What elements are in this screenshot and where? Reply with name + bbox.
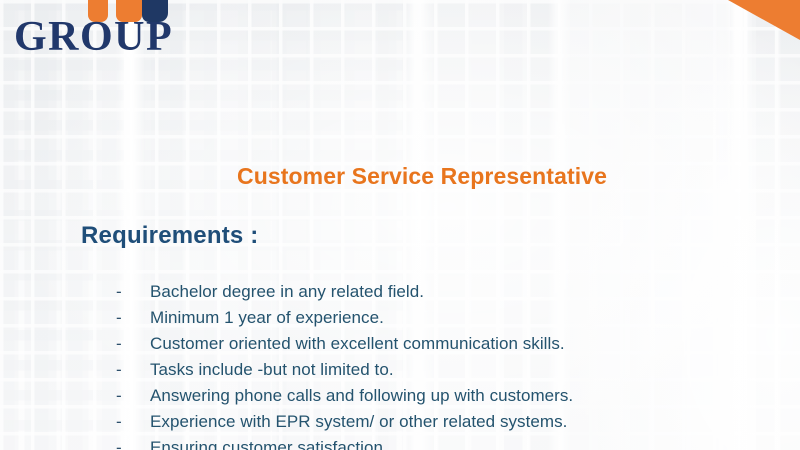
- page-title: Customer Service Representative: [237, 163, 607, 190]
- list-item: -Tasks include -but not limited to.: [116, 357, 776, 383]
- list-item-label: Bachelor degree in any related field.: [150, 279, 424, 305]
- requirements-heading: Requirements :: [81, 222, 259, 250]
- requirements-list: -Bachelor degree in any related field.-M…: [116, 279, 776, 450]
- list-item: -Minimum 1 year of experience.: [116, 305, 776, 331]
- list-item: -Bachelor degree in any related field.: [116, 279, 776, 305]
- list-item: -Experience with EPR system/ or other re…: [116, 409, 776, 435]
- list-item-label: Minimum 1 year of experience.: [150, 305, 384, 331]
- bullet-dash-icon: -: [116, 305, 150, 331]
- bullet-dash-icon: -: [116, 409, 150, 435]
- list-item-label: Tasks include -but not limited to.: [150, 357, 394, 383]
- list-item: -Ensuring customer satisfaction: [116, 435, 776, 450]
- job-posting-slide: GROUP Customer Service Representative Re…: [0, 0, 800, 450]
- list-item-label: Experience with EPR system/ or other rel…: [150, 409, 567, 435]
- bullet-dash-icon: -: [116, 383, 150, 409]
- bullet-dash-icon: -: [116, 331, 150, 357]
- list-item: -Customer oriented with excellent commun…: [116, 331, 776, 357]
- list-item: -Answering phone calls and following up …: [116, 383, 776, 409]
- bullet-dash-icon: -: [116, 435, 150, 450]
- list-item-label: Ensuring customer satisfaction: [150, 435, 383, 450]
- bullet-dash-icon: -: [116, 357, 150, 383]
- list-item-label: Answering phone calls and following up w…: [150, 383, 573, 409]
- logo-wordmark: GROUP: [14, 16, 173, 58]
- list-item-label: Customer oriented with excellent communi…: [150, 331, 565, 357]
- bullet-dash-icon: -: [116, 279, 150, 305]
